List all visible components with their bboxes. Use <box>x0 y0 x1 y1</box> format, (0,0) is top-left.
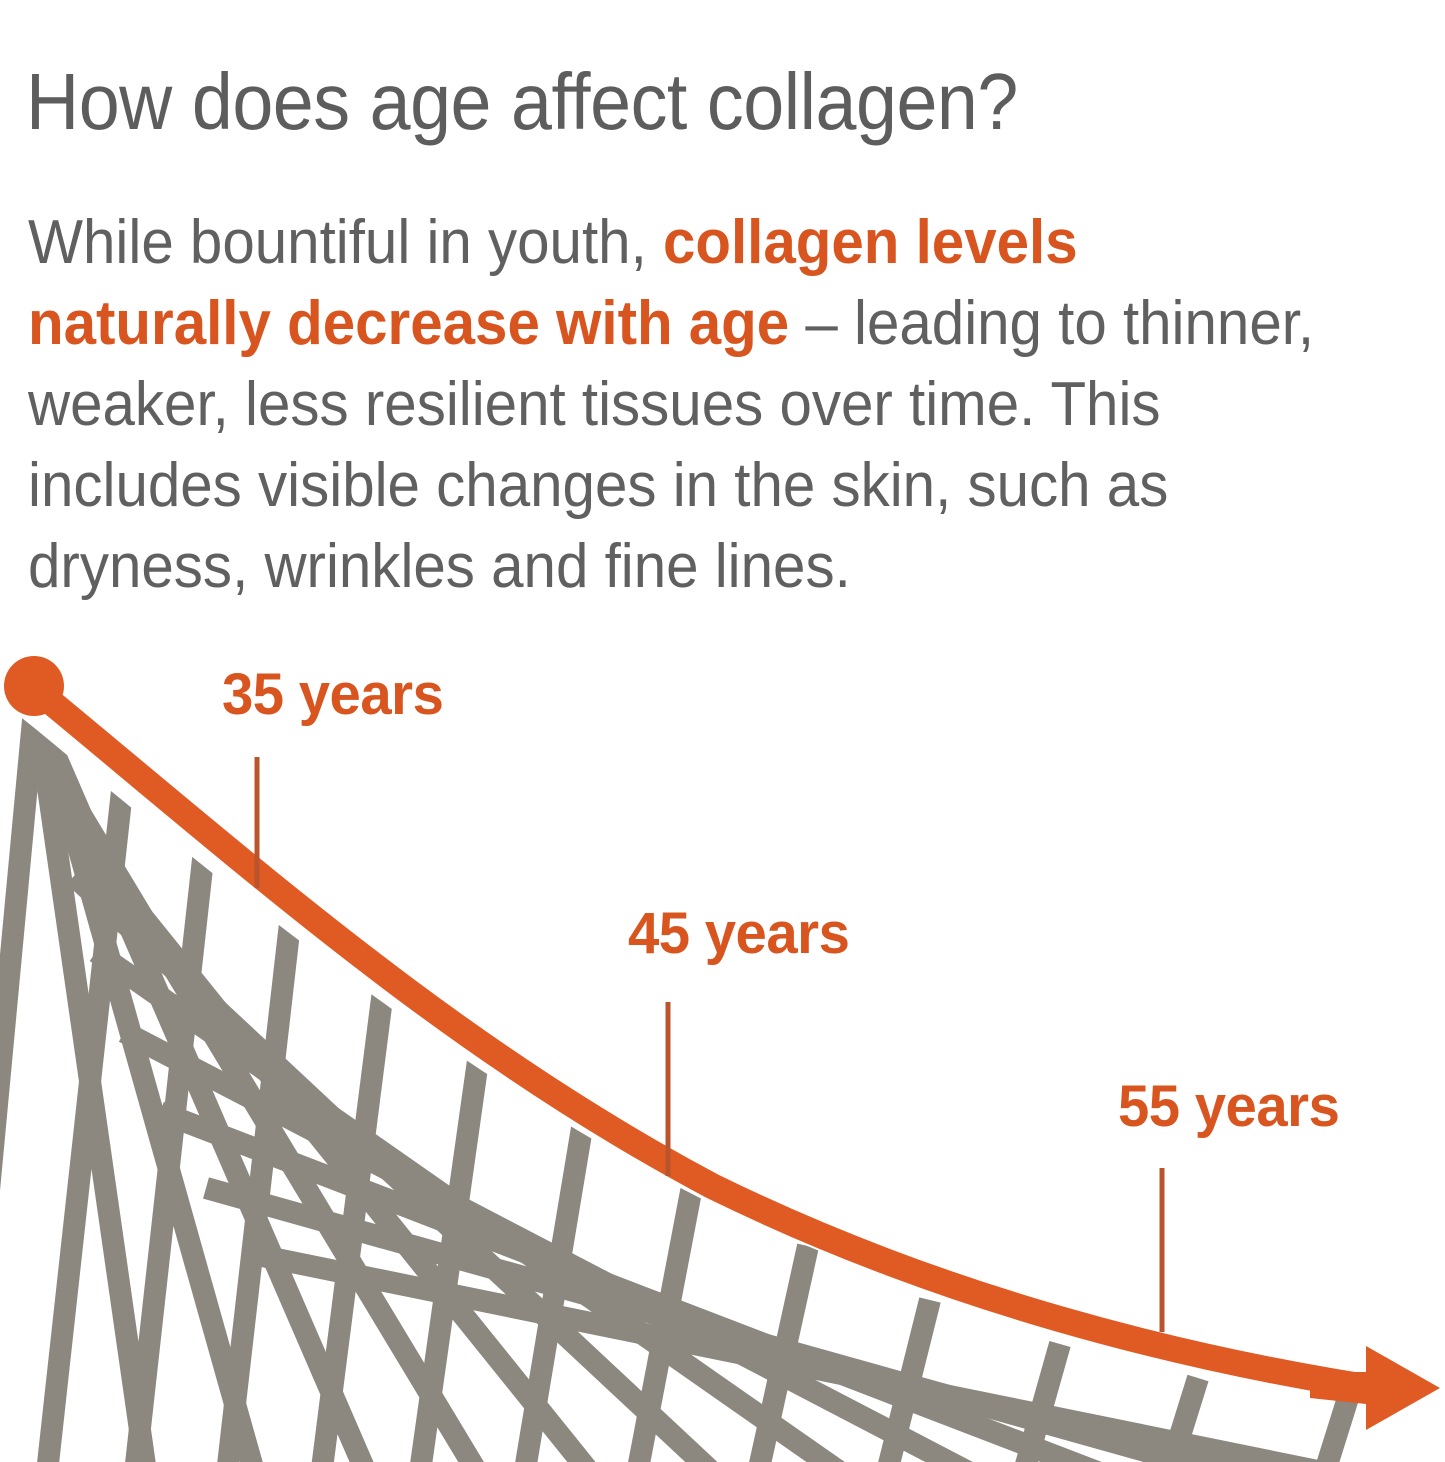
curve-start-dot <box>4 656 64 716</box>
age-label-35-years: 35 years <box>222 661 443 728</box>
chart-canvas <box>0 0 1445 1462</box>
age-label-45-years: 45 years <box>628 900 849 967</box>
age-label-55-years: 55 years <box>1118 1073 1339 1140</box>
collagen-decline-chart: 35 years 45 years 55 years <box>0 0 1445 1462</box>
infographic-page: How does age affect collagen? While boun… <box>0 0 1445 1462</box>
curve-arrowhead <box>1310 1346 1440 1430</box>
